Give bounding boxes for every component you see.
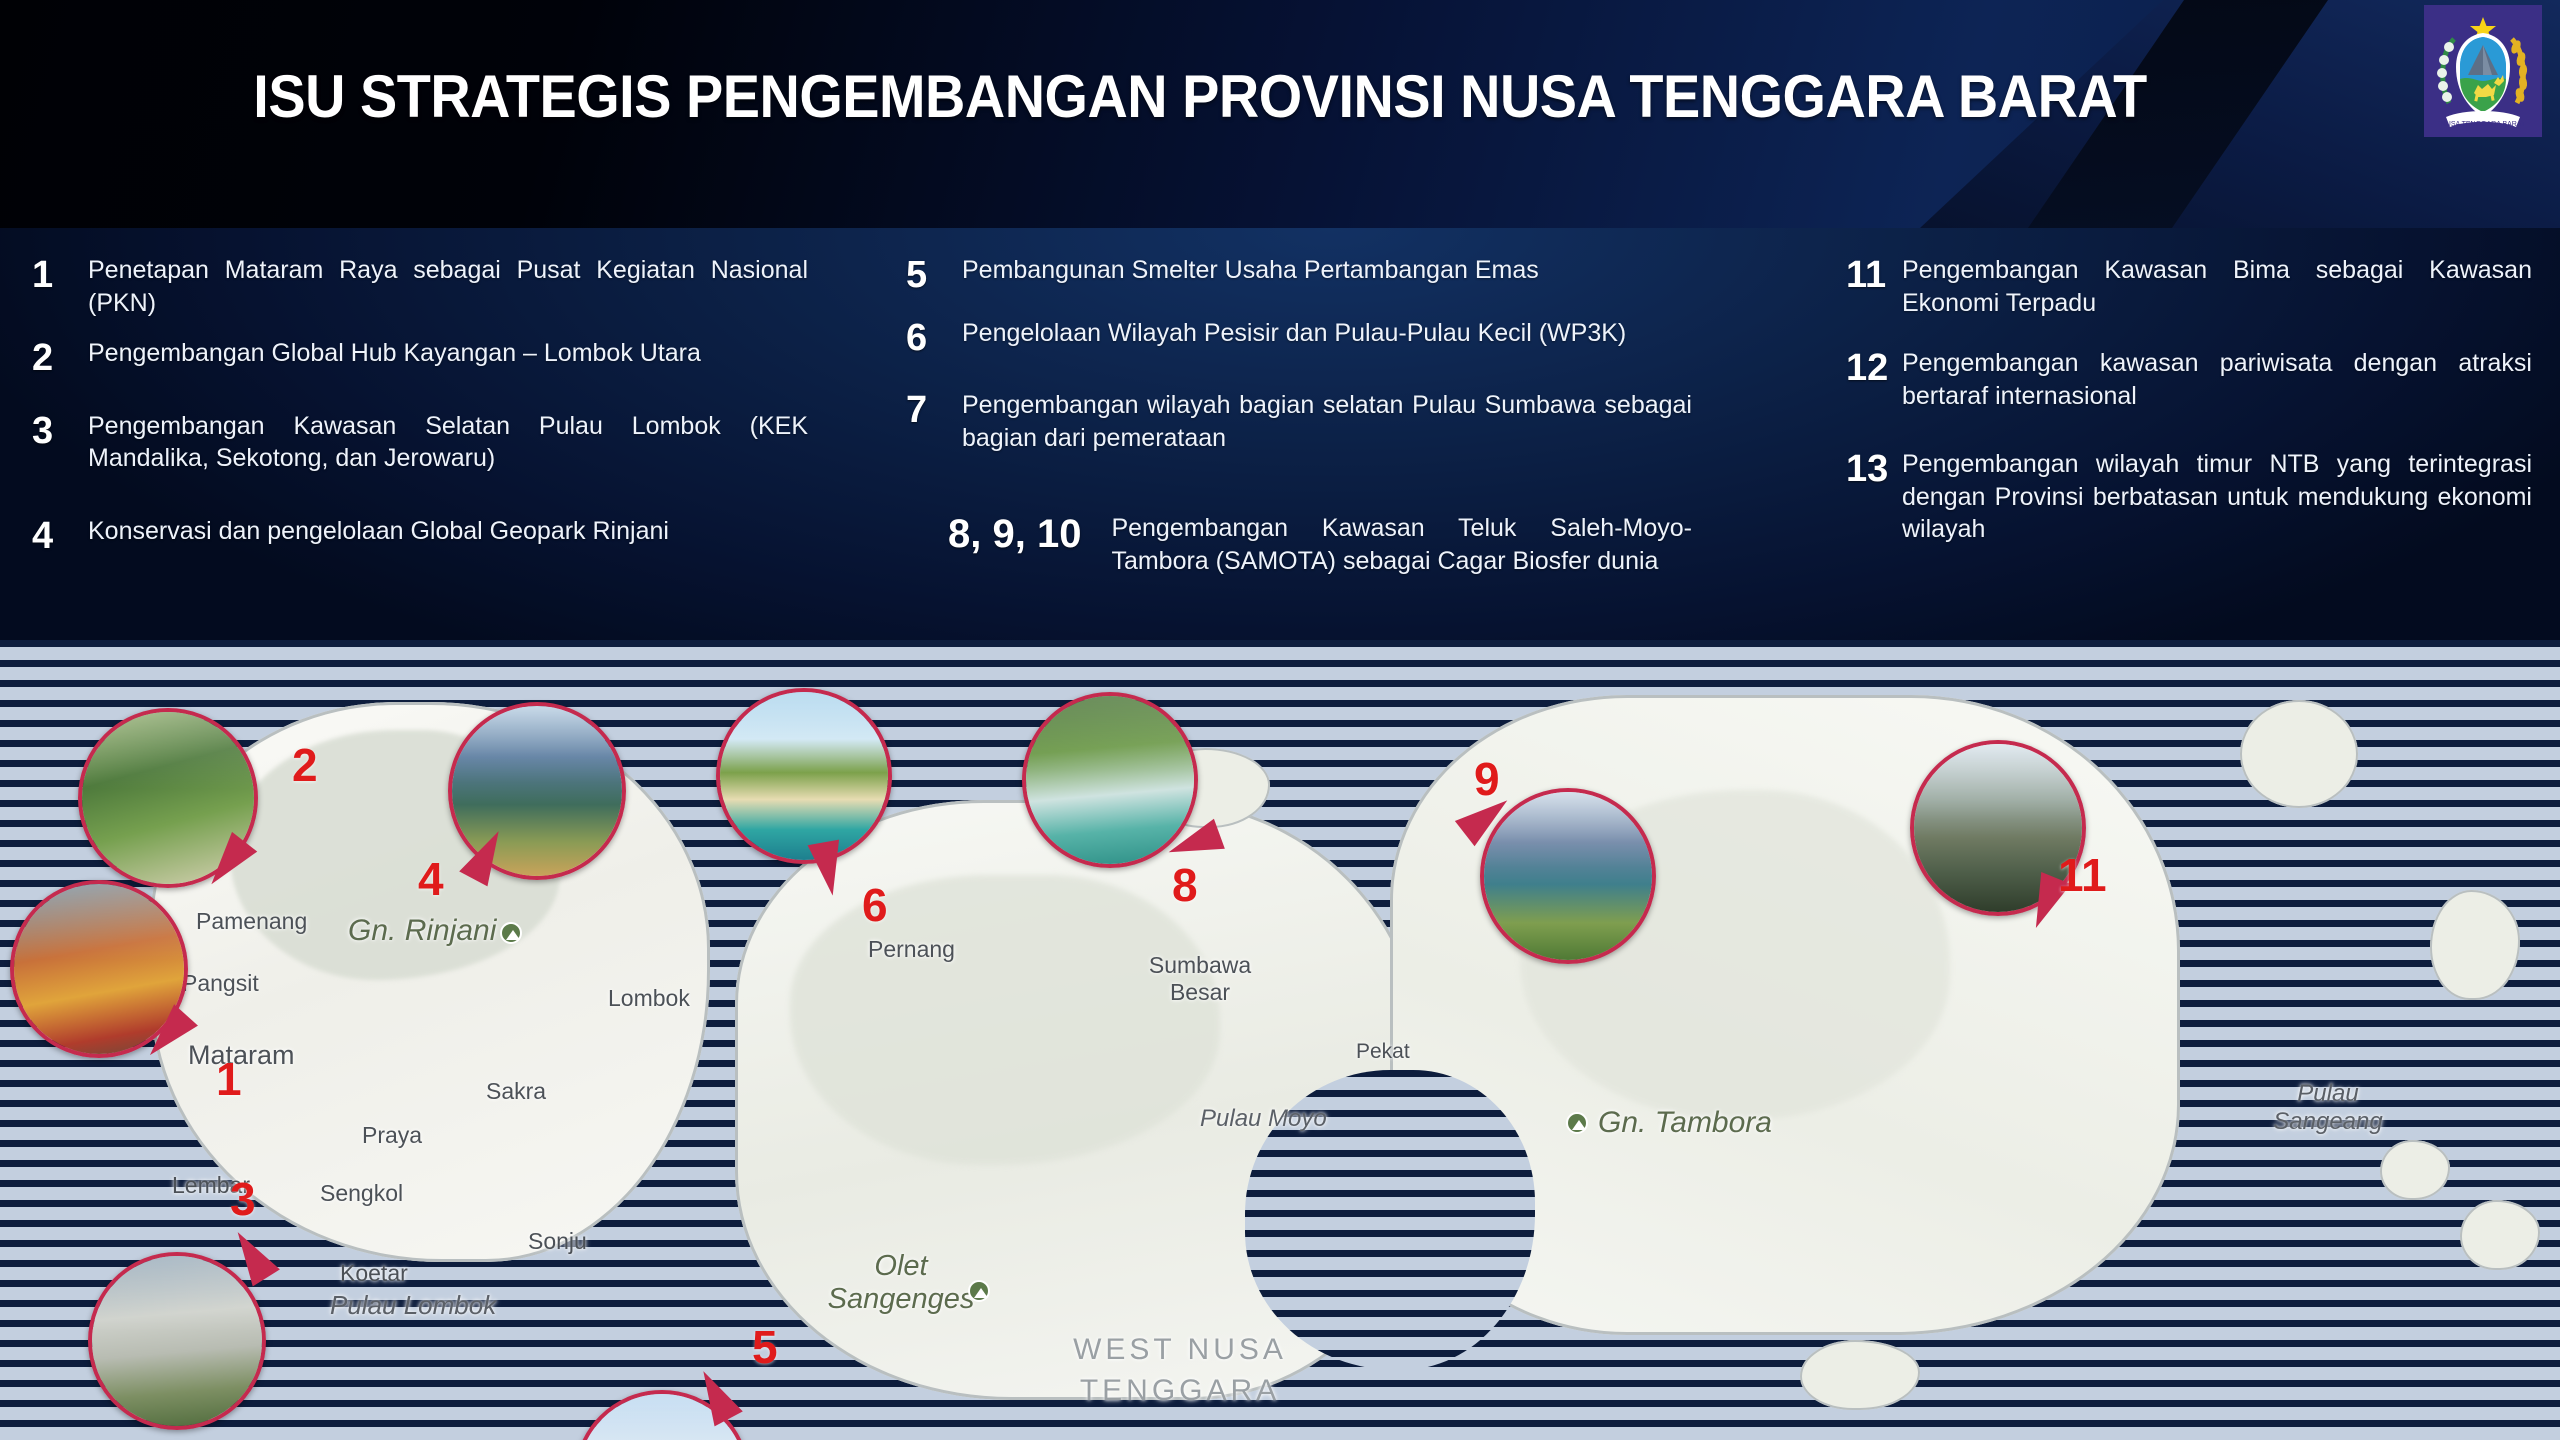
photo-thumb-beach: [720, 692, 888, 860]
issue-number: 7: [900, 389, 962, 454]
map-label-gn-tambora: Gn. Tambora: [1598, 1106, 1772, 1140]
volcano-icon-tambora: [1566, 1112, 1588, 1134]
map-label-pulau-sangeang: Pulau Sangeang: [2268, 1080, 2388, 1136]
issue-text: Pengembangan wilayah bagian selatan Pula…: [962, 389, 1700, 454]
issue-number: 6: [900, 317, 962, 360]
map-label-pangsit: Pangsit: [182, 970, 259, 997]
issue-text: Pengelolaan Wilayah Pesisir dan Pulau-Pu…: [962, 317, 1700, 360]
issue-item-8-9-10[interactable]: 8, 9, 10 Pengembangan Kawasan Teluk Sale…: [942, 512, 1700, 577]
slide-header: ISU STRATEGIS PENGEMBANGAN PROVINSI NUSA…: [0, 0, 2560, 228]
issue-text: Pengembangan kawasan pariwisata dengan a…: [1902, 347, 2540, 412]
issue-item-6[interactable]: 6 Pengelolaan Wilayah Pesisir dan Pulau-…: [900, 317, 1700, 360]
issue-text: Pengembangan Kawasan Teluk Saleh-Moyo-Ta…: [1111, 512, 1700, 577]
issue-text: Konservasi dan pengelolaan Global Geopar…: [88, 515, 816, 558]
provincial-emblem-logo: NUSA TENGGARA BARAT: [2424, 5, 2542, 137]
map-label-pulau-moyo: Pulau Moyo: [1200, 1105, 1327, 1133]
map-marker-3[interactable]: 3: [230, 1172, 256, 1226]
issue-number: 13: [1840, 448, 1902, 546]
volcano-icon-rinjani: [500, 922, 522, 944]
map-label-pulau-lombok: Pulau Lombok: [330, 1290, 496, 1321]
map-region-label: WEST NUSA TENGGARA: [1030, 1330, 1330, 1411]
map-label-olet-sangenges: Olet Sangenges: [826, 1250, 976, 1316]
map-marker-11[interactable]: 11: [2058, 848, 2107, 902]
map-label-sumbawa-besar: Sumbawa Besar: [1120, 952, 1280, 1006]
map-label-pekat: Pekat: [1356, 1040, 1410, 1064]
ntb-map[interactable]: Pamenang Pangsit Mataram Lombok Sakra Pr…: [0, 640, 2560, 1440]
photo-thumb-road: [92, 1256, 262, 1426]
issue-item-3[interactable]: 3 Pengembangan Kawasan Selatan Pulau Lom…: [26, 410, 816, 475]
issue-item-5[interactable]: 5 Pembangunan Smelter Usaha Pertambangan…: [900, 254, 1700, 297]
islet-south: [1800, 1340, 1920, 1410]
slide-root: ISU STRATEGIS PENGEMBANGAN PROVINSI NUSA…: [0, 0, 2560, 1440]
map-label-pamenang: Pamenang: [196, 908, 307, 935]
map-label-pernang: Pernang: [868, 936, 955, 963]
page-title: ISU STRATEGIS PENGEMBANGAN PROVINSI NUSA…: [84, 62, 2316, 131]
strategic-issues-panel: 1 Penetapan Mataram Raya sebagai Pusat K…: [0, 228, 2560, 640]
map-label-sonju: Sonju: [528, 1228, 587, 1255]
issue-number: 4: [26, 515, 88, 558]
islet-east-a: [2380, 1140, 2450, 1200]
map-label-sakra: Sakra: [486, 1078, 546, 1105]
issue-number: 11: [1840, 254, 1902, 319]
map-marker-5[interactable]: 5: [752, 1320, 778, 1374]
issue-number: 1: [26, 254, 88, 319]
volcano-icon-sangenges: [968, 1280, 990, 1302]
issue-text: Pengembangan Kawasan Selatan Pulau Lombo…: [88, 410, 816, 475]
issue-number: 8, 9, 10: [942, 512, 1111, 577]
map-label-praya: Praya: [362, 1122, 422, 1149]
issue-item-4[interactable]: 4 Konservasi dan pengelolaan Global Geop…: [26, 515, 816, 558]
issues-column-2: 5 Pembangunan Smelter Usaha Pertambangan…: [900, 248, 1700, 577]
issue-text: Pembangunan Smelter Usaha Pertambangan E…: [962, 254, 1700, 297]
issues-column-1: 1 Penetapan Mataram Raya sebagai Pusat K…: [26, 248, 816, 567]
sumbawa-west-highland: [790, 875, 1220, 1165]
issue-item-2[interactable]: 2 Pengembangan Global Hub Kayangan – Lom…: [26, 337, 816, 380]
map-marker-6[interactable]: 6: [862, 878, 888, 932]
map-label-sengkol: Sengkol: [320, 1180, 403, 1207]
issue-number: 5: [900, 254, 962, 297]
map-marker-9[interactable]: 9: [1474, 752, 1500, 806]
issue-item-7[interactable]: 7 Pengembangan wilayah bagian selatan Pu…: [900, 389, 1700, 454]
map-marker-1[interactable]: 1: [216, 1052, 242, 1106]
map-label-gn-rinjani: Gn. Rinjani: [348, 914, 496, 948]
emblem-ribbon-text: NUSA TENGGARA BARAT: [2441, 121, 2526, 128]
issue-text: Pengembangan wilayah timur NTB yang teri…: [1902, 448, 2540, 546]
issue-item-1[interactable]: 1 Penetapan Mataram Raya sebagai Pusat K…: [26, 254, 816, 319]
issue-item-11[interactable]: 11 Pengembangan Kawasan Bima sebagai Kaw…: [1840, 254, 2540, 319]
issue-number: 3: [26, 410, 88, 475]
islet-pulau-sangeang: [2240, 700, 2358, 808]
issue-text: Pengembangan Kawasan Bima sebagai Kawasa…: [1902, 254, 2540, 319]
photo-bubble-6[interactable]: [716, 688, 892, 864]
issue-item-13[interactable]: 13 Pengembangan wilayah timur NTB yang t…: [1840, 448, 2540, 546]
islet-northeast: [2430, 890, 2520, 1000]
map-marker-2[interactable]: 2: [292, 738, 318, 792]
issue-text: Pengembangan Global Hub Kayangan – Lombo…: [88, 337, 816, 380]
map-label-lombok: Lombok: [608, 985, 690, 1012]
issue-item-12[interactable]: 12 Pengembangan kawasan pariwisata denga…: [1840, 347, 2540, 412]
issue-text: Penetapan Mataram Raya sebagai Pusat Keg…: [88, 254, 816, 319]
photo-bubble-3[interactable]: [88, 1252, 266, 1430]
issue-number: 2: [26, 337, 88, 380]
map-label-koetar: Koetar: [340, 1260, 408, 1287]
map-marker-8[interactable]: 8: [1172, 858, 1198, 912]
map-marker-4[interactable]: 4: [418, 852, 444, 906]
issue-number: 12: [1840, 347, 1902, 412]
islet-east-b: [2460, 1200, 2540, 1270]
issues-column-3: 11 Pengembangan Kawasan Bima sebagai Kaw…: [1840, 248, 2540, 556]
